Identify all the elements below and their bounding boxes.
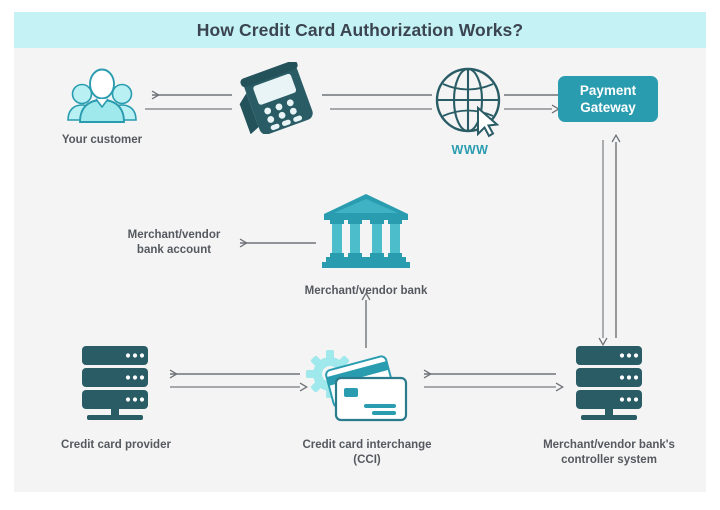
bank-building-icon [320, 190, 412, 272]
caption-merchant-bank-controller: Merchant/vendor bank's controller system [518, 438, 700, 468]
server-stack-icon-controller [572, 344, 646, 422]
www-label: WWW [430, 143, 510, 157]
caption-merchant-bank-account: Merchant/vendor bank account [106, 228, 242, 258]
customers-group-icon [62, 64, 142, 126]
cards-gear-icon [302, 348, 414, 424]
diagram-canvas: How Credit Card Authorization Works? [0, 0, 720, 510]
pos-terminal-icon [230, 62, 330, 134]
caption-merchant-bank: Merchant/vendor bank [281, 284, 451, 299]
caption-your-customer: Your customer [32, 133, 172, 148]
payment-gateway-label: Payment Gateway [580, 82, 636, 116]
diagram-title-band: How Credit Card Authorization Works? [14, 12, 706, 48]
caption-credit-card-provider: Credit card provider [40, 438, 192, 453]
caption-credit-card-interchange: Credit card interchange (CCI) [276, 438, 458, 468]
payment-gateway-box[interactable]: Payment Gateway [558, 76, 658, 122]
globe-cursor-icon [432, 64, 508, 140]
page-title: How Credit Card Authorization Works? [197, 20, 523, 41]
server-stack-icon-provider [78, 344, 152, 422]
